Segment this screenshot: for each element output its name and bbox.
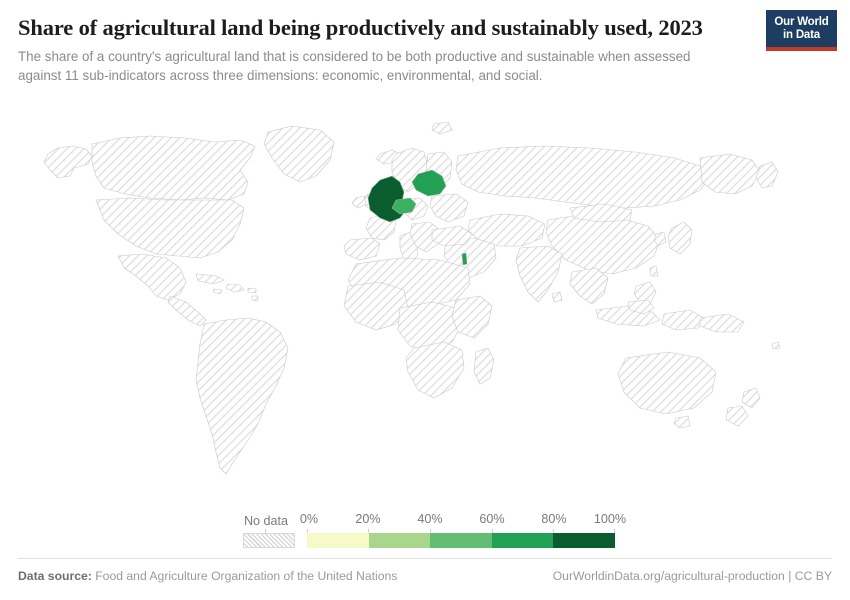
legend-bin-40-60[interactable] (430, 533, 492, 548)
country-siberia-east (700, 154, 760, 194)
legend-tick-mark-20 (368, 529, 369, 533)
country-madagascar (474, 348, 494, 384)
country-indonesia-2 (662, 310, 704, 330)
legend-tick-mark-100 (614, 529, 615, 533)
footer-divider (18, 558, 832, 559)
country-alaska (44, 146, 92, 178)
country-spain-portugal (344, 238, 380, 260)
legend-tick-label-20: 20% (355, 512, 380, 526)
chart-footer: Data source: Food and Agriculture Organi… (18, 566, 832, 586)
country-sri-lanka (552, 292, 562, 302)
country-new-zealand-s (726, 406, 748, 426)
chart-subtitle: The share of a country's agricultural la… (18, 47, 708, 85)
country-turkey (432, 226, 472, 246)
legend-tick-mark-40 (430, 529, 431, 533)
country-puerto-rico (248, 288, 256, 293)
legend-color-bins[interactable] (307, 533, 615, 548)
country-svalbard (432, 122, 452, 134)
attribution-link[interactable]: OurWorldinData.org/agricultural-producti… (553, 569, 832, 583)
country-central-america (168, 296, 206, 326)
owid-map-chart: Share of agricultural land being product… (0, 0, 850, 600)
legend-tick-label-40: 40% (417, 512, 442, 526)
world-map[interactable] (0, 96, 850, 496)
country-russia (456, 146, 710, 208)
legend-bin-80-100[interactable] (553, 533, 615, 548)
page-title: Share of agricultural land being product… (18, 14, 832, 42)
chart-header: Share of agricultural land being product… (0, 0, 850, 85)
country-china (546, 214, 660, 274)
legend-bin-60-80[interactable] (492, 533, 554, 548)
country-east-africa (452, 296, 492, 338)
country-germany-value (368, 176, 406, 222)
legend-inner: No data 0% 20% 40% 60% 80% 100% (235, 508, 615, 552)
country-japan (668, 222, 692, 254)
map-countries-no-data (44, 122, 780, 474)
country-usa (96, 198, 244, 258)
legend-tick-label-80: 80% (541, 512, 566, 526)
country-hispaniola (226, 284, 244, 292)
country-tasmania (674, 416, 690, 428)
country-mexico (118, 254, 186, 300)
map-legend: No data 0% 20% 40% 60% 80% 100% (0, 508, 850, 552)
country-southern-africa (406, 342, 464, 398)
country-new-guinea (700, 314, 744, 332)
owid-logo[interactable]: Our World in Data (766, 10, 837, 51)
country-south-america (196, 318, 288, 474)
legend-no-data-swatch[interactable] (243, 533, 295, 548)
country-qatar-value (462, 253, 467, 265)
country-canada (92, 136, 255, 200)
legend-tick-mark-0 (307, 529, 308, 533)
country-jamaica (213, 289, 222, 294)
country-new-zealand-n (742, 388, 760, 408)
country-ireland (352, 196, 366, 208)
legend-tick-label-100: 100% (594, 512, 626, 526)
legend-tick-label-60: 60% (479, 512, 504, 526)
legend-bin-20-40[interactable] (369, 533, 431, 548)
legend-bin-0-20[interactable] (307, 533, 369, 548)
country-ukraine-region (430, 194, 468, 222)
country-caribbean-small (252, 296, 258, 301)
country-sea-mainland (570, 268, 608, 304)
country-australia (618, 352, 716, 414)
data-source-value: Food and Agriculture Organization of the… (95, 569, 397, 583)
legend-tick-mark-80 (553, 529, 554, 533)
legend-tick-label-0: 0% (300, 512, 318, 526)
logo-line-2: in Data (783, 29, 820, 42)
legend-tick-mark-60 (492, 529, 493, 533)
map-svg (0, 96, 850, 496)
data-source-label: Data source: (18, 569, 92, 583)
country-greenland (264, 126, 334, 182)
country-fiji (772, 342, 780, 349)
country-cuba (196, 274, 224, 284)
country-taiwan (650, 266, 658, 276)
legend-no-data-label: No data (235, 514, 297, 528)
logo-line-1: Our World (774, 16, 828, 29)
country-kamchatka (756, 162, 778, 188)
data-source: Data source: Food and Agriculture Organi… (18, 569, 397, 583)
